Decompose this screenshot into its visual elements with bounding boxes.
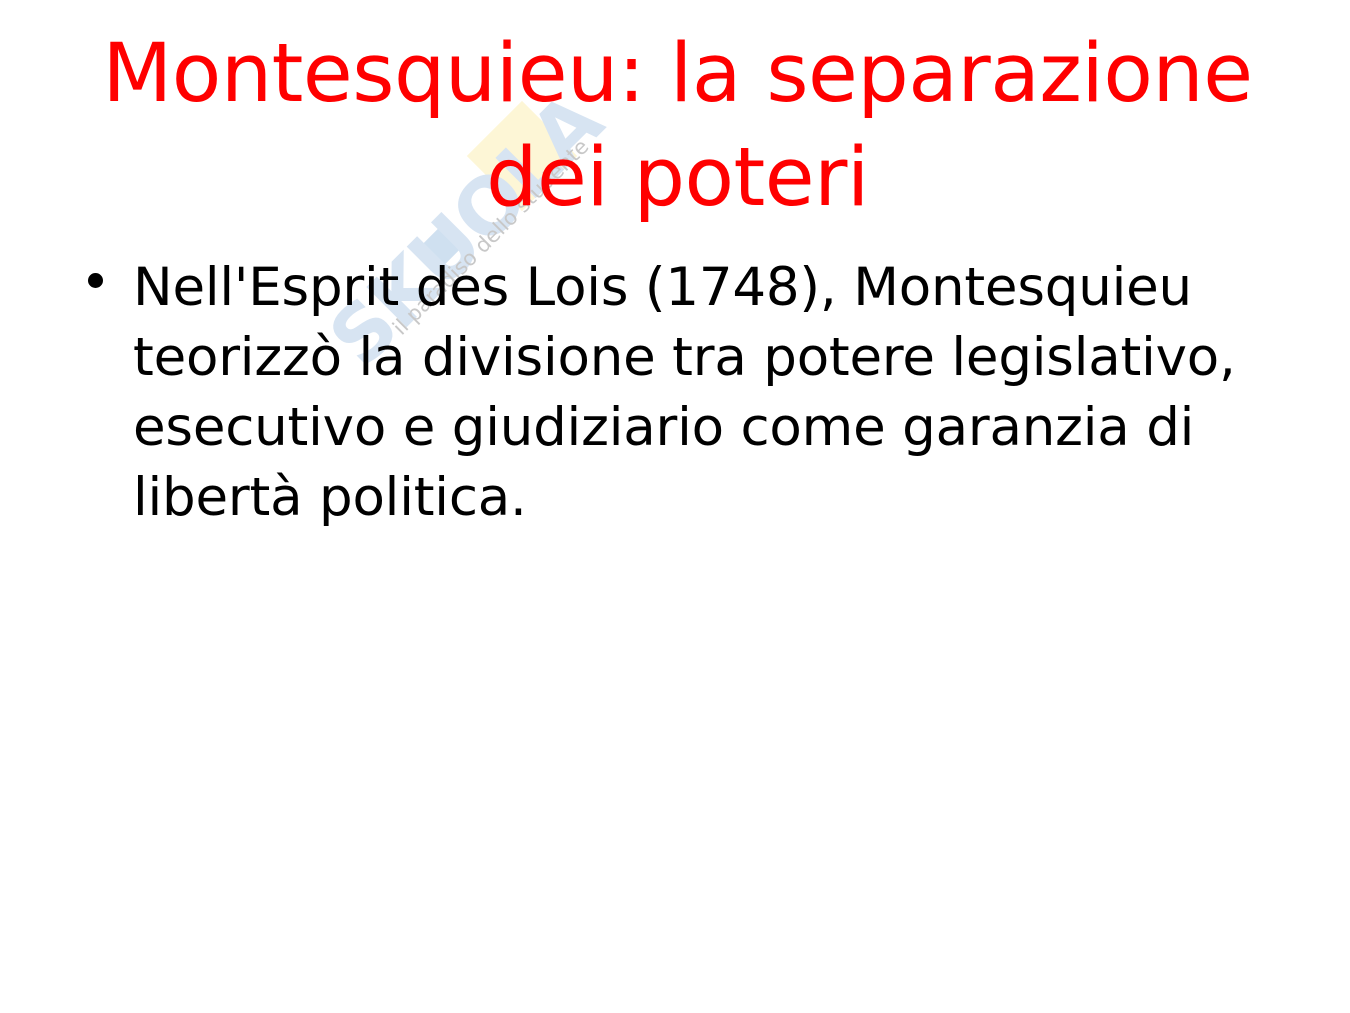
presentation-slide: SKUOLA il paradiso dello studente Montes… xyxy=(0,0,1350,1013)
slide-body: Nell'Esprit des Lois (1748), Montesquieu… xyxy=(72,253,1272,533)
list-item: Nell'Esprit des Lois (1748), Montesquieu… xyxy=(72,253,1272,533)
bullet-text: Nell'Esprit des Lois (1748), Montesquieu… xyxy=(133,253,1272,533)
slide-title: Montesquieu: la separazione dei poteri xyxy=(60,22,1295,231)
bullet-point-icon xyxy=(88,273,103,288)
